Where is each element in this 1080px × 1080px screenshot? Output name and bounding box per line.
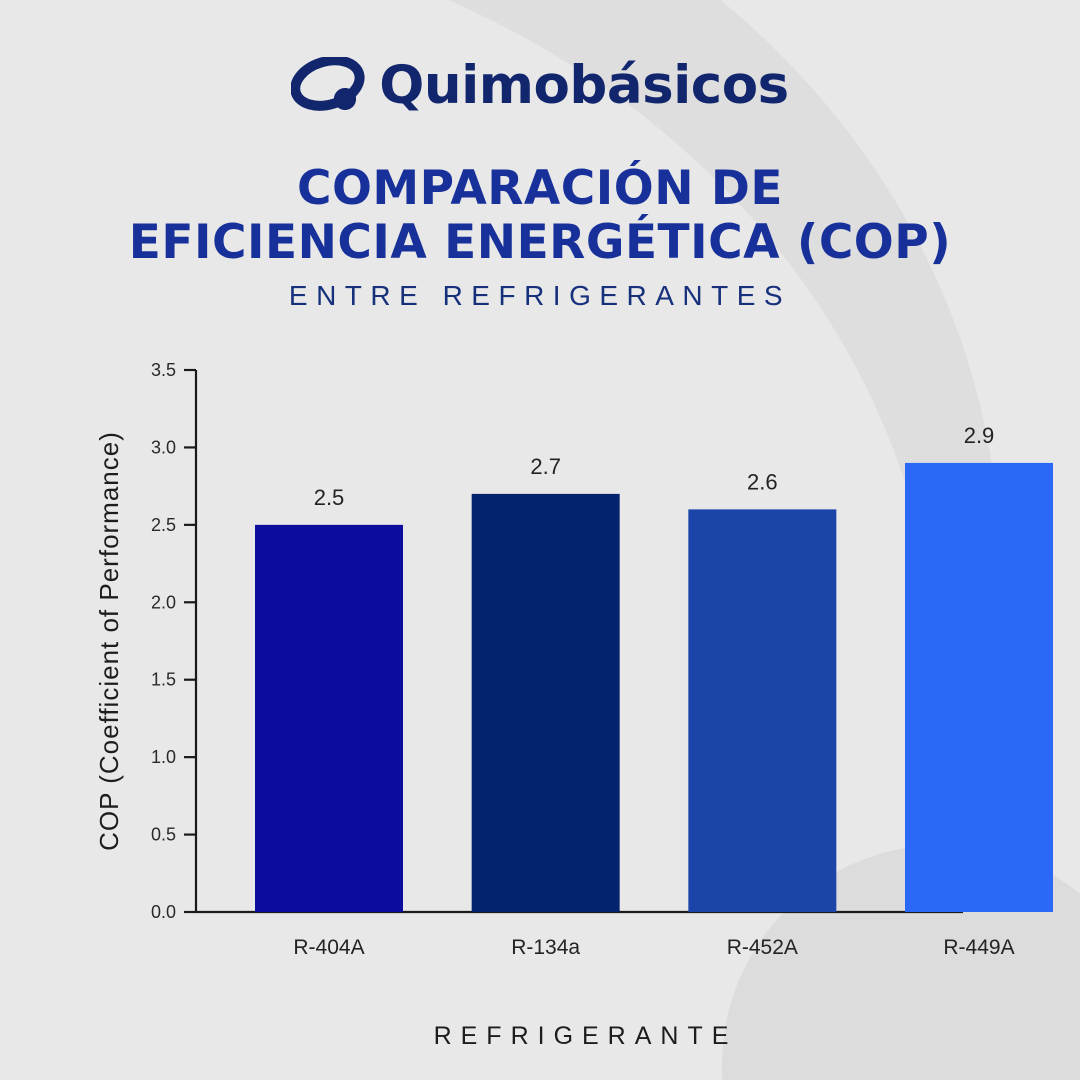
bar-chart-svg: 0.00.51.01.52.02.53.03.52.5R-404A2.7R-13… [0,340,1080,1080]
bar-chart: 0.00.51.01.52.02.53.03.52.5R-404A2.7R-13… [0,340,1080,1080]
x-axis-category-label: R-134a [511,936,580,959]
page-subtitle: ENTRE REFRIGERANTES [0,280,1080,312]
bar[interactable] [688,509,836,912]
y-axis-tick-label: 2.0 [151,592,176,612]
y-axis-tick-label: 3.0 [151,437,176,457]
bar-value-label: 2.9 [964,423,995,448]
bar[interactable] [905,463,1053,912]
y-axis-tick-label: 2.5 [151,515,176,535]
infographic-poster: Quimobásicos COMPARACIÓN DE EFICIENCIA E… [0,0,1080,1080]
x-axis-category-label: R-449A [943,936,1014,959]
title-block: COMPARACIÓN DE EFICIENCIA ENERGÉTICA (CO… [0,162,1080,312]
brand-name: Quimobásicos [379,59,788,112]
bar[interactable] [255,525,403,912]
y-axis-tick-label: 0.5 [151,825,176,845]
x-axis-title: REFRIGERANTE [434,1022,738,1050]
y-axis-tick-label: 0.0 [151,902,176,922]
y-axis-tick-label: 1.5 [151,670,176,690]
bar[interactable] [472,494,620,912]
x-axis-category-label: R-452A [727,936,798,959]
bar-value-label: 2.6 [747,469,778,494]
bar-value-label: 2.5 [314,485,345,510]
x-axis-category-label: R-404A [293,936,364,959]
page-title-line-2: EFICIENCIA ENERGÉTICA (COP) [0,216,1080,270]
y-axis-tick-label: 1.0 [151,747,176,767]
brand-logo: Quimobásicos [291,54,788,116]
orbit-ellipse-icon [291,57,365,113]
y-axis-title: COP (Coefficient of Performance) [94,431,124,851]
page-title-line-1: COMPARACIÓN DE [0,162,1080,216]
y-axis-tick-label: 3.5 [151,360,176,380]
poster-header: Quimobásicos [0,0,1080,118]
bar-value-label: 2.7 [530,454,561,479]
